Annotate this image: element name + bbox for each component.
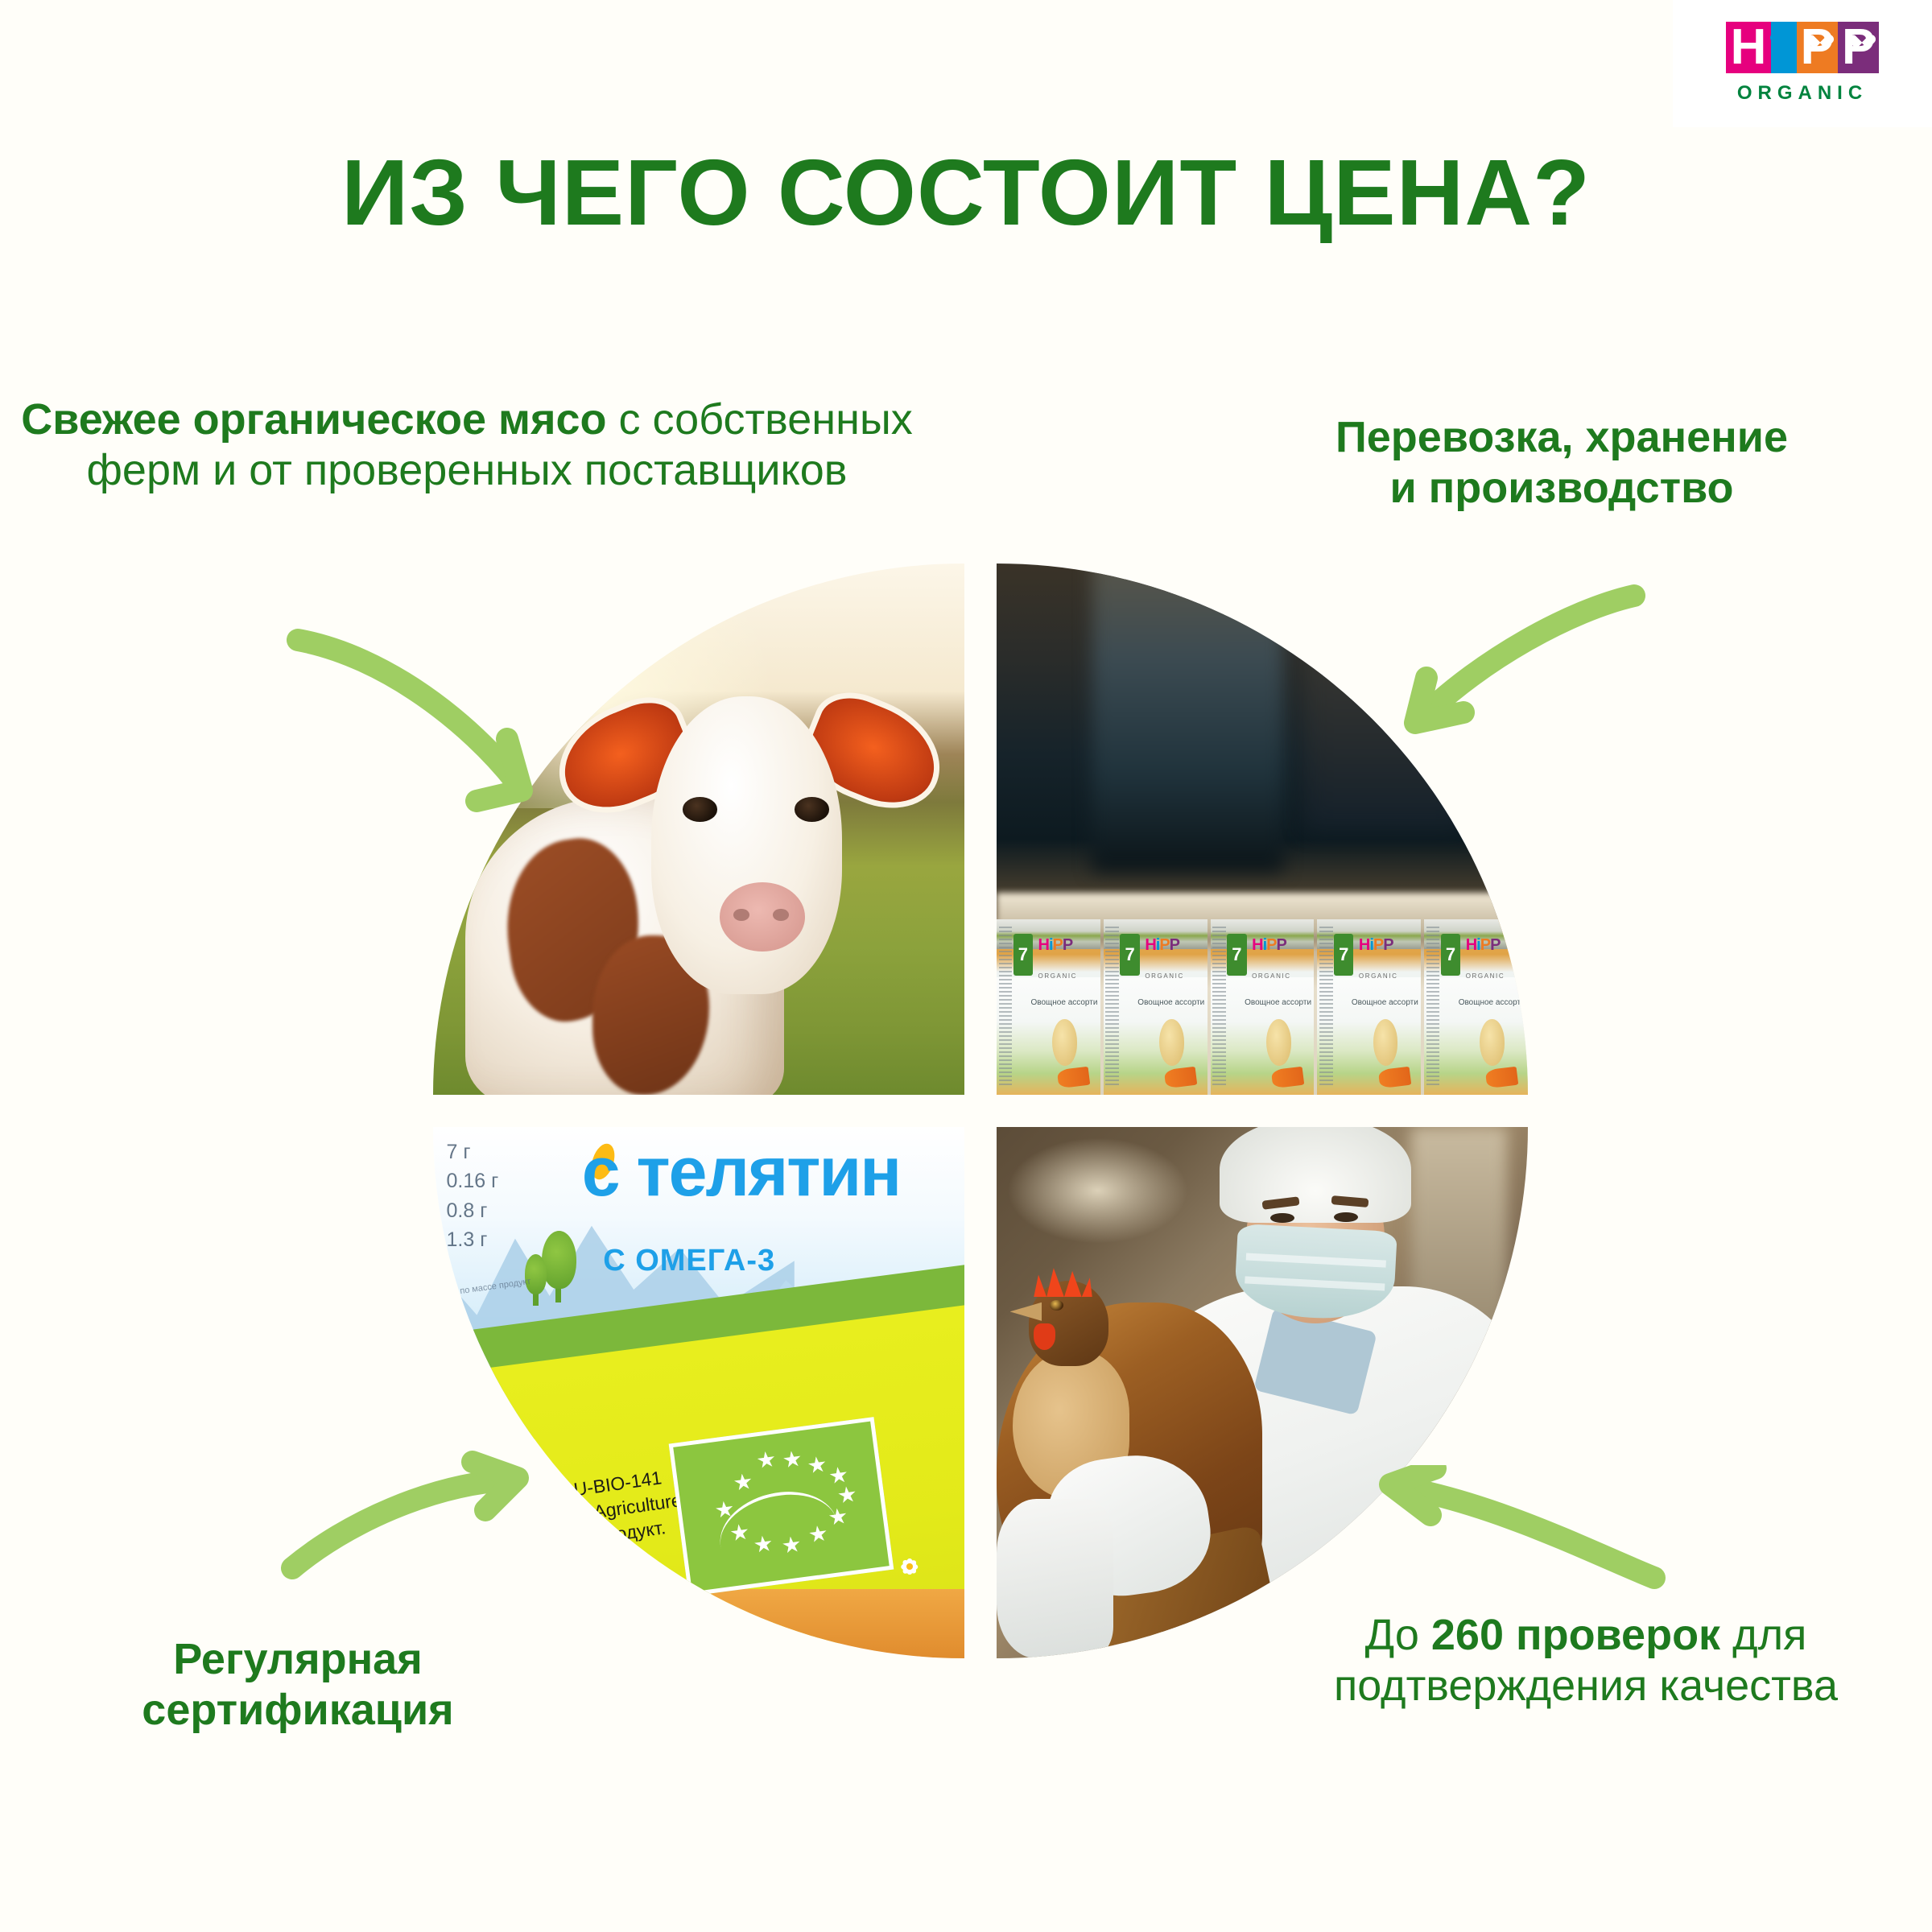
conveyor-jar: 7 HiPP ORGANIC Овощное ассорти <box>1317 919 1421 1095</box>
eu-organic-leaf-icon <box>668 1417 894 1596</box>
caption-br-bold: 260 проверок <box>1431 1611 1720 1659</box>
jar-organic-label: ORGANIC <box>1038 972 1078 980</box>
page-title: ИЗ ЧЕГО СОСТОИТ ЦЕНА? <box>0 138 1932 246</box>
caption-regular-certification: Регулярная сертификация <box>48 1634 547 1736</box>
heart-icon-white-2 <box>1853 29 1870 44</box>
jar-product-name: Овощное ассорти <box>1245 998 1311 1007</box>
nutrition-value: 0.16 г <box>447 1166 499 1195</box>
daisy-icon <box>762 1621 780 1639</box>
jar-age-badge: 7 <box>1120 934 1139 976</box>
logo-letter-p2-text: P <box>1842 19 1875 75</box>
arrow-to-worker-icon <box>1356 1465 1695 1626</box>
conveyor-jar-row: 7 HiPP ORGANIC Овощное ассорти 7 HiPP OR… <box>997 919 1528 1095</box>
jar-organic-label: ORGANIC <box>1145 972 1184 980</box>
logo-letter-h: H <box>1726 22 1772 73</box>
caption-tr-line1: Перевозка, хранение <box>1335 413 1788 461</box>
arrow-to-label-icon <box>270 1449 608 1626</box>
conveyor-jar: 7 HiPP ORGANIC Овощное ассорти <box>1104 919 1207 1095</box>
conveyor-jar: 7 HiPP ORGANIC Овощное ассорти <box>1211 919 1315 1095</box>
jar-brand-logo: HiPP <box>1038 937 1073 953</box>
jar-label-subtitle: С ОМЕГА-3 <box>603 1244 775 1278</box>
jar-product-name: Овощное ассорти <box>1459 998 1525 1007</box>
infographic-canvas: H i P P ORGANIC ИЗ ЧЕГО СОСТОИТ ЦЕНА? <box>0 0 1932 1932</box>
logo-letter-p1-text: P <box>1801 19 1834 75</box>
jar-product-name: Овощное ассорти <box>1137 998 1204 1007</box>
conveyor-jar: 7 HiPP ORGANIC Овощное ассорти <box>1424 919 1528 1095</box>
jar-brand-logo: HiPP <box>1359 937 1393 953</box>
caption-tl-bold: Свежее органическое мясо <box>21 395 606 444</box>
logo-wordmark: H i P P <box>1726 23 1880 73</box>
jar-nutrition-values: 7 г 0.16 г 0.8 г 1.3 г <box>447 1137 499 1254</box>
nutrition-value: 0.8 г <box>447 1196 499 1225</box>
arrow-to-factory-icon <box>1368 563 1707 805</box>
jar-age-badge: 7 <box>1013 934 1033 976</box>
jar-product-name: Овощное ассорти <box>1352 998 1418 1007</box>
jar-age-badge: 7 <box>1334 934 1353 976</box>
jar-brand-logo: HiPP <box>1466 937 1501 953</box>
jar-product-name: Овощное ассорти <box>1031 998 1098 1007</box>
caption-bl-line2: сертификация <box>142 1686 453 1734</box>
logo-letter-i: i <box>1771 22 1796 73</box>
jar-label-title: с телятин <box>582 1133 900 1212</box>
daisy-icon <box>901 1558 919 1575</box>
nutrition-value: 7 г <box>447 1137 499 1166</box>
jar-age-badge: 7 <box>1441 934 1460 976</box>
jar-brand-logo: HiPP <box>1252 937 1286 953</box>
jar-age-badge: 7 <box>1227 934 1246 976</box>
caption-br-prefix: До <box>1365 1611 1431 1659</box>
hipp-organic-logo: H i P P ORGANIC <box>1673 0 1932 127</box>
caption-bl-line1: Регулярная <box>173 1635 422 1683</box>
jar-organic-label: ORGANIC <box>1466 972 1505 980</box>
heart-icon-white-1 <box>1812 29 1829 44</box>
caption-tr-line2: и производство <box>1389 464 1733 512</box>
jar-organic-label: ORGANIC <box>1252 972 1291 980</box>
caption-transport-storage-production: Перевозка, хранение и производство <box>1207 412 1916 514</box>
logo-letter-p2: P <box>1838 22 1879 73</box>
jar-brand-logo: HiPP <box>1145 937 1179 953</box>
heart-icon-blue <box>1776 27 1793 43</box>
logo-subtitle: ORGANIC <box>1737 82 1868 105</box>
caption-260-checks: До 260 проверок для подтверждения качест… <box>1240 1610 1932 1711</box>
jar-organic-label: ORGANIC <box>1359 972 1398 980</box>
arrow-to-calf-icon <box>266 563 604 821</box>
caption-fresh-organic-meat: Свежее органическое мясо с собственных ф… <box>16 394 918 496</box>
logo-letter-p1: P <box>1797 22 1838 73</box>
nutrition-value: 1.3 г <box>447 1225 499 1254</box>
conveyor-jar: 7 HiPP ORGANIC Овощное ассорти <box>997 919 1100 1095</box>
